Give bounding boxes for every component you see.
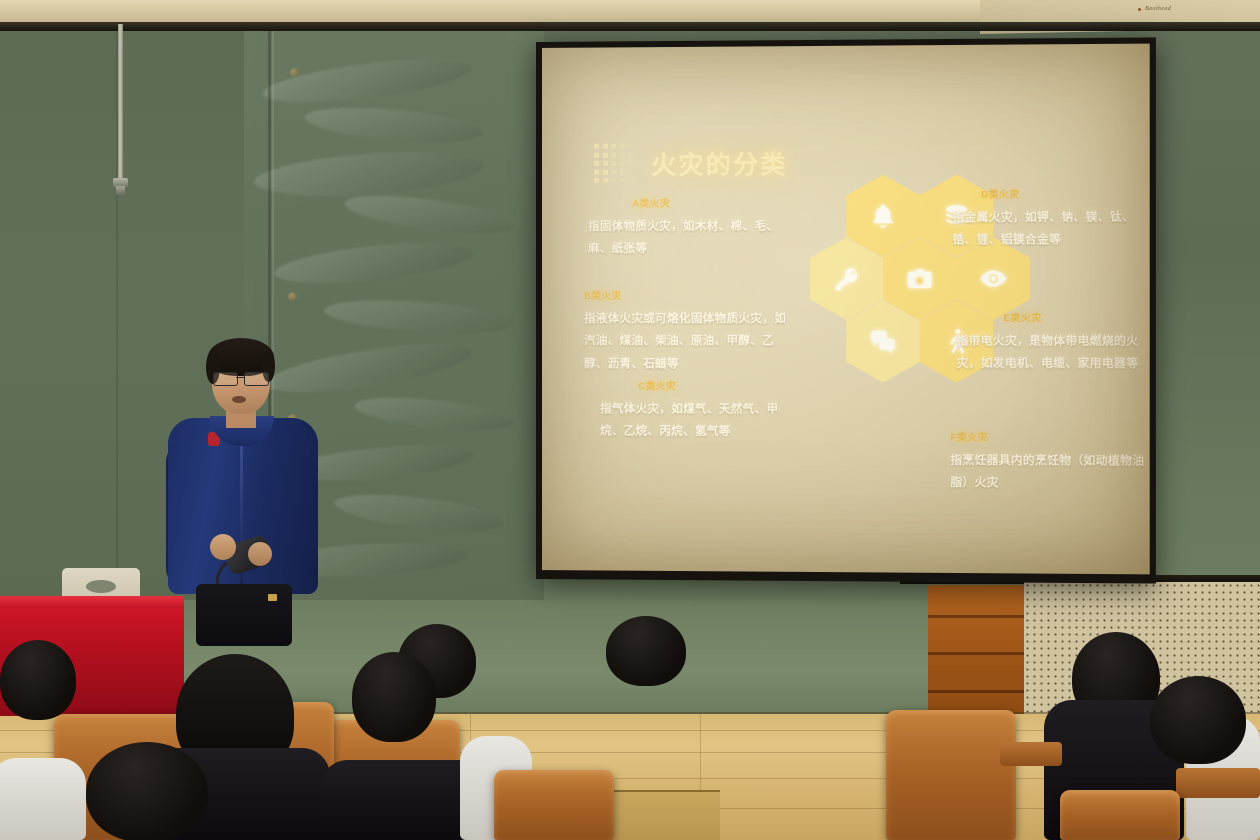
photo-scene: Boothead xyxy=(0,0,1260,840)
trousers-tag xyxy=(268,594,277,601)
sprinkler-pipe xyxy=(118,24,123,184)
fire-class-label-e: E类火灾 xyxy=(1004,310,1150,324)
theater-seat xyxy=(494,770,614,840)
fire-class-body-d: 指金属火灾，如钾、钠、镁、钛、锆、锂、铝镁合金等 xyxy=(952,206,1143,252)
camera-icon xyxy=(905,265,934,293)
table-top-edge xyxy=(0,596,184,608)
bell-icon xyxy=(869,202,898,230)
fire-class-block-d: D类火灾 指金属火灾，如钾、钠、镁、钛、锆、锂、铝镁合金等 xyxy=(952,186,1143,252)
fire-class-block-e: E类火灾 指带电火灾，是物体带电燃烧的火灾，如发电机、电缆、家用电器等 xyxy=(956,310,1149,376)
presenter-trousers xyxy=(196,584,292,646)
fire-class-label-c: C类火灾 xyxy=(638,378,795,392)
ceiling-beam xyxy=(0,22,1260,31)
glasses-icon xyxy=(212,372,270,385)
glasses-lens-right xyxy=(244,372,269,386)
presenter-mouth xyxy=(232,396,246,403)
fire-class-block-c: C类火灾 指气体火灾，如煤气、天然气、甲烷、乙烷、丙烷、氢气等 xyxy=(592,378,796,444)
glasses-lens-left xyxy=(213,372,238,386)
fire-class-body-f: 指烹饪器具内的烹饪物（如动植物油脂）火灾 xyxy=(950,450,1145,496)
fire-class-label-b: B类火灾 xyxy=(584,288,798,302)
seat-armrest xyxy=(1176,768,1260,798)
presenter xyxy=(168,344,320,644)
chair-backrest-cutout xyxy=(86,580,116,593)
wall-fixture xyxy=(288,292,297,301)
fire-class-block-b: B类火灾 指液体火灾或可熔化固体物质火灾，如汽油、煤油、柴油、原油、甲醇、乙醇、… xyxy=(584,288,798,376)
glasses-bridge xyxy=(236,377,244,378)
audience-head xyxy=(86,742,208,840)
audience-head xyxy=(0,640,76,720)
eye-icon xyxy=(979,264,1008,292)
projected-slide: 火灾的分类 xyxy=(542,44,1150,575)
audience-body xyxy=(0,758,86,840)
audience-head xyxy=(606,616,686,686)
presenter-hand-right xyxy=(248,542,272,566)
audience-head xyxy=(1150,676,1246,764)
slide-title-row: 火灾的分类 xyxy=(594,143,788,183)
fire-class-label-a: A类火灾 xyxy=(632,195,789,210)
beam-label: Boothead xyxy=(1145,6,1171,12)
beam-marker-icon xyxy=(1138,8,1141,11)
theater-seat xyxy=(1060,790,1180,840)
fire-class-body-a: 指固体物质火灾，如木材、棉、毛、麻、纸张等 xyxy=(588,215,790,260)
chat-icon xyxy=(869,327,898,355)
presenter-hand-left xyxy=(210,534,236,560)
dot-grid-icon xyxy=(594,144,633,183)
projection-screen-frame: 火灾的分类 xyxy=(536,37,1156,583)
wall-fixture xyxy=(290,68,299,77)
sprinkler-nozzle-icon xyxy=(116,186,125,197)
audience-head xyxy=(352,652,436,742)
fire-class-label-d: D类火灾 xyxy=(981,186,1143,201)
fire-class-body-c: 指气体火灾，如煤气、天然气、甲烷、乙烷、丙烷、氢气等 xyxy=(600,398,796,444)
fire-class-label-f: F类火灾 xyxy=(950,429,1145,444)
fire-class-block-f: F类火灾 指烹饪器具内的烹饪物（如动植物油脂）火灾 xyxy=(950,429,1145,496)
fire-class-block-a: A类火灾 指固体物质火灾，如木材、棉、毛、麻、纸张等 xyxy=(588,195,790,261)
fire-class-body-e: 指带电火灾，是物体带电燃烧的火灾，如发电机、电缆、家用电器等 xyxy=(956,330,1149,376)
fire-class-body-b: 指液体火灾或可熔化固体物质火灾，如汽油、煤油、柴油、原油、甲醇、乙醇、沥青、石蜡… xyxy=(584,308,798,376)
key-icon xyxy=(832,265,860,293)
seat-armrest xyxy=(1000,742,1062,766)
theater-seat xyxy=(886,710,1016,840)
slide-title: 火灾的分类 xyxy=(651,144,787,181)
